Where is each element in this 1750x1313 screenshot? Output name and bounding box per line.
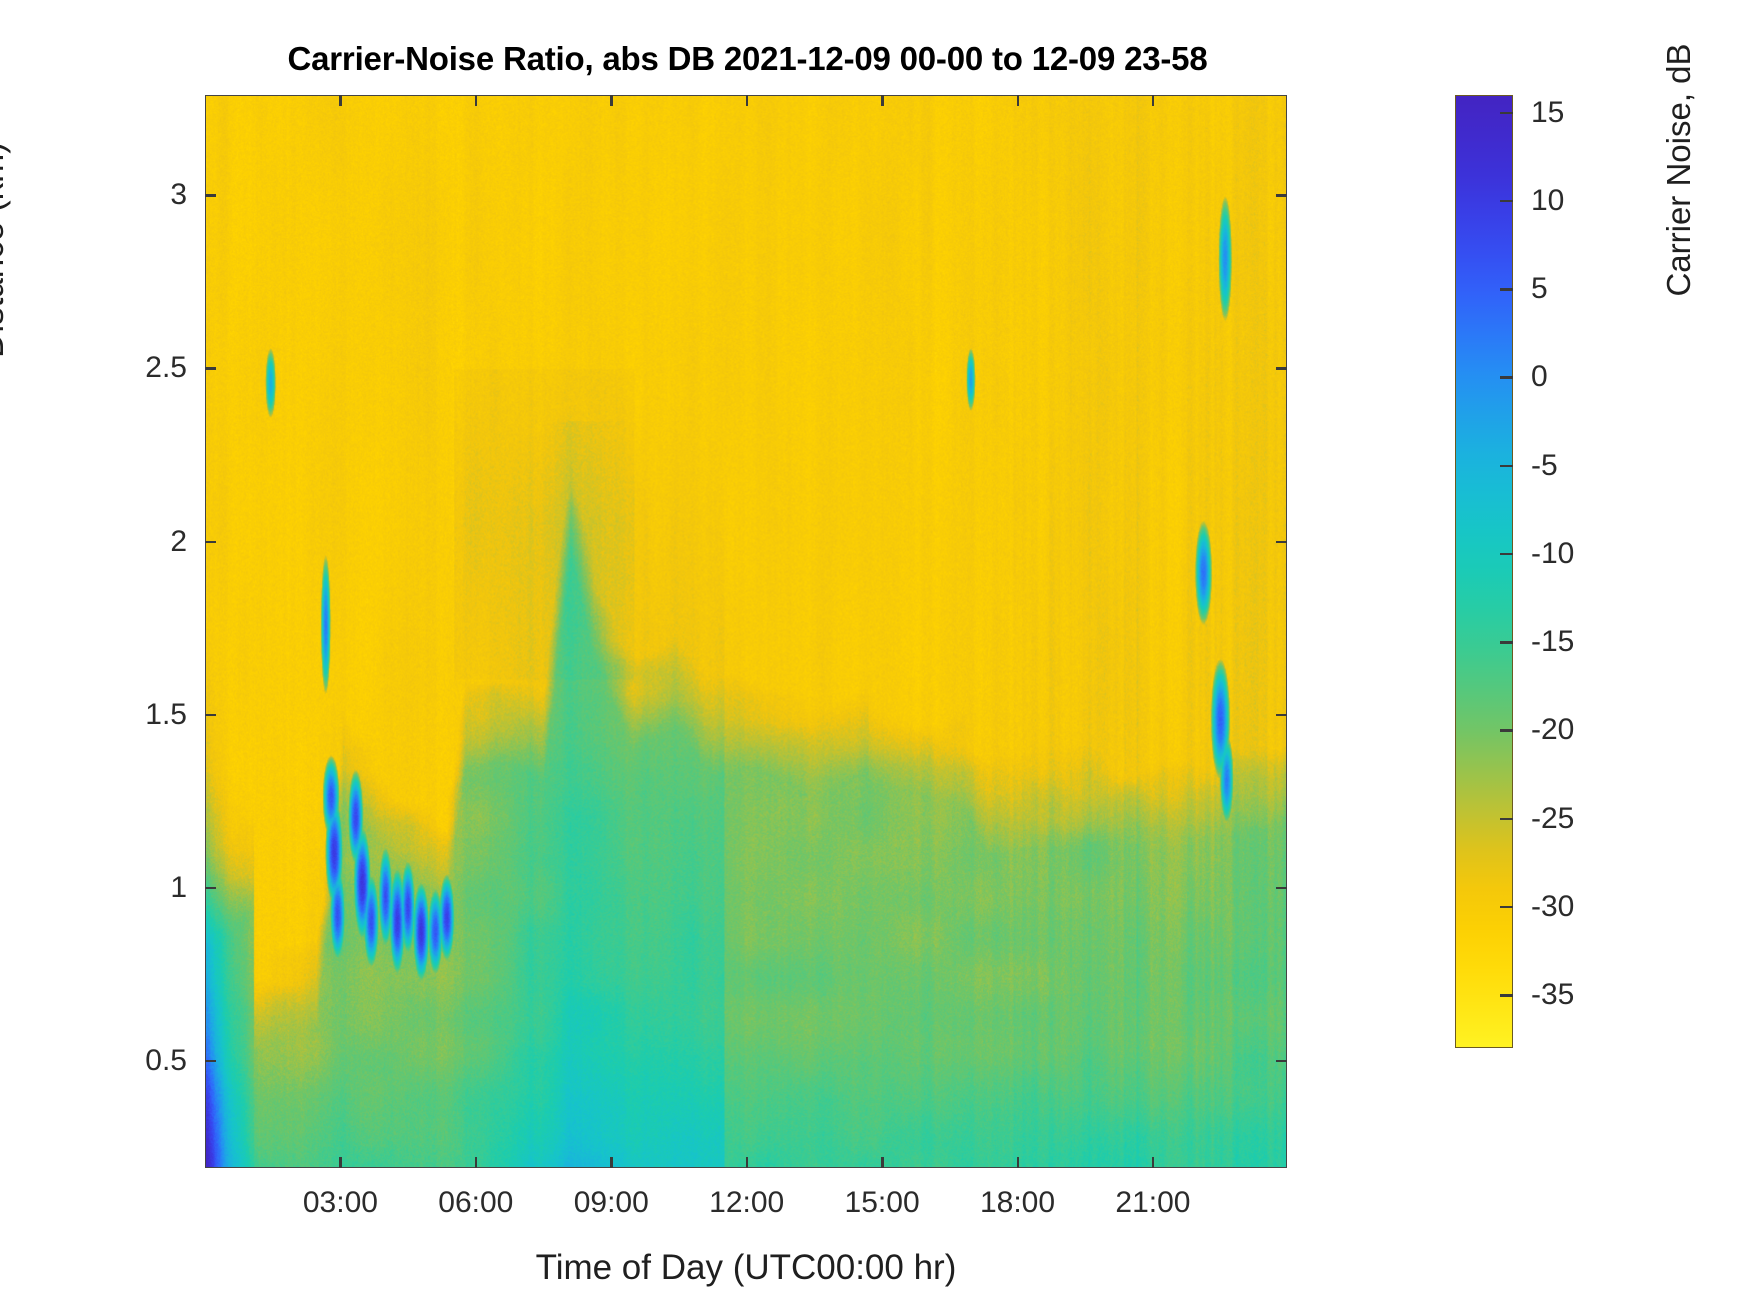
y-tick-label: 1 [0, 871, 187, 905]
x-tick-label: 03:00 [303, 1186, 378, 1220]
x-tick-mark-top [475, 95, 478, 106]
colorbar-tick-label: 5 [1531, 272, 1548, 306]
x-axis-title: Time of Day (UTC00:00 hr) [205, 1248, 1287, 1288]
x-tick-label: 09:00 [574, 1186, 649, 1220]
colorbar-tick-mark [1500, 288, 1513, 291]
x-tick-mark [475, 1157, 478, 1168]
x-tick-label: 18:00 [980, 1186, 1055, 1220]
y-tick-label: 2.5 [0, 351, 187, 385]
y-tick-mark [205, 714, 216, 717]
x-tick-mark-top [339, 95, 342, 106]
x-tick-mark-top [1017, 95, 1020, 106]
colorbar-tick-label: -15 [1531, 625, 1574, 659]
y-axis-title: Distance (km) [0, 40, 12, 460]
x-tick-label: 15:00 [845, 1186, 920, 1220]
heatmap-axes[interactable] [205, 95, 1287, 1168]
heatmap-image [206, 96, 1286, 1167]
colorbar-tick-mark [1500, 818, 1513, 821]
y-tick-mark-right [1276, 367, 1287, 370]
y-tick-mark [205, 1060, 216, 1063]
colorbar-tick-label: 15 [1531, 96, 1564, 130]
y-tick-mark-right [1276, 887, 1287, 890]
colorbar-tick-mark [1500, 994, 1513, 997]
x-tick-mark [881, 1157, 884, 1168]
y-tick-mark-right [1276, 541, 1287, 544]
colorbar-tick-mark [1500, 465, 1513, 468]
x-tick-label: 21:00 [1115, 1186, 1190, 1220]
y-tick-mark [205, 887, 216, 890]
y-tick-label: 1.5 [0, 698, 187, 732]
colorbar-tick-label: -30 [1531, 890, 1574, 924]
x-tick-mark [746, 1157, 749, 1168]
colorbar-tick-mark [1500, 112, 1513, 115]
x-tick-label: 12:00 [709, 1186, 784, 1220]
y-tick-mark-right [1276, 1060, 1287, 1063]
heatmap-canvas [206, 96, 1286, 1167]
x-tick-mark [339, 1157, 342, 1168]
colorbar-tick-mark [1500, 376, 1513, 379]
colorbar-tick-label: -5 [1531, 449, 1558, 483]
colorbar-tick-mark [1500, 729, 1513, 732]
y-tick-mark [205, 194, 216, 197]
y-tick-label: 0.5 [0, 1044, 187, 1078]
x-tick-label: 06:00 [438, 1186, 513, 1220]
colorbar-tick-label: -20 [1531, 713, 1574, 747]
x-tick-mark-top [1152, 95, 1155, 106]
y-tick-label: 3 [0, 178, 187, 212]
x-tick-mark [610, 1157, 613, 1168]
colorbar-tick-label: -35 [1531, 978, 1574, 1012]
x-tick-mark-top [881, 95, 884, 106]
x-tick-mark-top [610, 95, 613, 106]
chart-title: Carrier-Noise Ratio, abs DB 2021-12-09 0… [205, 40, 1290, 78]
colorbar-title: Carrier Noise, dB [1660, 0, 1698, 380]
colorbar-tick-label: -10 [1531, 537, 1574, 571]
y-tick-mark-right [1276, 714, 1287, 717]
y-tick-mark [205, 367, 216, 370]
y-tick-mark [205, 541, 216, 544]
y-tick-label: 2 [0, 525, 187, 559]
colorbar-tick-mark [1500, 906, 1513, 909]
x-tick-mark [1152, 1157, 1155, 1168]
figure-canvas: Carrier-Noise Ratio, abs DB 2021-12-09 0… [0, 0, 1750, 1313]
colorbar-tick-label: 0 [1531, 360, 1548, 394]
colorbar-tick-mark [1500, 553, 1513, 556]
x-tick-mark [1017, 1157, 1020, 1168]
colorbar-tick-mark [1500, 641, 1513, 644]
colorbar-tick-mark [1500, 200, 1513, 203]
x-tick-mark-top [746, 95, 749, 106]
colorbar-gradient [1456, 96, 1512, 1047]
y-tick-mark-right [1276, 194, 1287, 197]
colorbar-tick-label: 10 [1531, 184, 1564, 218]
colorbar-tick-label: -25 [1531, 802, 1574, 836]
